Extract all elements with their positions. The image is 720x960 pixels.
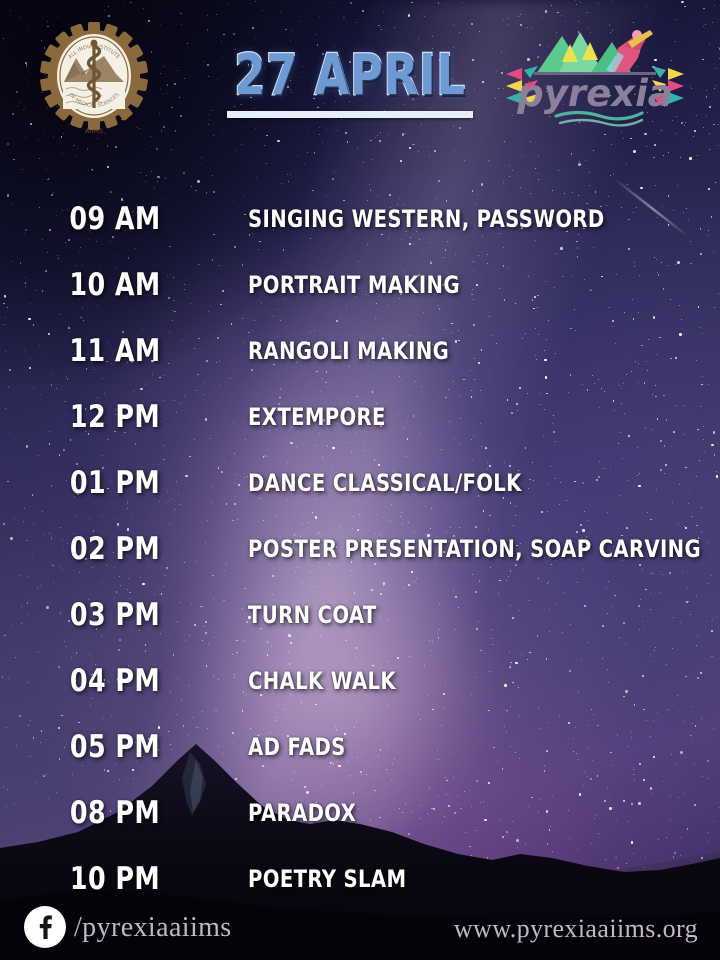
pyrexia-logo: pyrexia — [500, 22, 690, 132]
schedule-time: 12 PM — [21, 399, 210, 435]
schedule-event: CHALK WALK — [230, 667, 632, 695]
facebook-icon[interactable] — [24, 906, 66, 948]
schedule-event: EXTEMPORE — [230, 403, 632, 431]
schedule-row: 08 PMPARADOX — [0, 780, 720, 846]
poster-header: ALL INDIA INSTITUTE OF MEDICAL SCIENCES … — [0, 0, 720, 150]
facebook-handle[interactable]: /pyrexiaaiims — [74, 912, 232, 944]
schedule-time: 10 AM — [21, 267, 210, 303]
schedule-event: AD FADS — [230, 733, 632, 761]
schedule-time: 03 PM — [21, 597, 210, 633]
schedule-row: 04 PMCHALK WALK — [0, 648, 720, 714]
website-url[interactable]: www.pyrexiaaiims.org — [454, 914, 698, 944]
page-title: 27 APRIL — [234, 48, 466, 104]
schedule-row: 12 PMEXTEMPORE — [0, 384, 720, 450]
schedule-row: 02 PMPOSTER PRESENTATION, SOAP CARVING — [0, 516, 720, 582]
schedule-event: DANCE CLASSICAL/FOLK — [230, 469, 632, 497]
schedule-event: PARADOX — [230, 799, 632, 827]
date-title-block: 27 APRIL — [205, 48, 495, 118]
schedule-row: 10 AMPORTRAIT MAKING — [0, 252, 720, 318]
event-schedule-poster: ALL INDIA INSTITUTE OF MEDICAL SCIENCES … — [0, 0, 720, 960]
schedule-time: 01 PM — [21, 465, 210, 501]
poster-footer: /pyrexiaaiims www.pyrexiaaiims.org — [0, 896, 720, 960]
schedule-time: 04 PM — [21, 663, 210, 699]
schedule-event: TURN COAT — [230, 601, 632, 629]
schedule-time: 02 PM — [21, 531, 210, 567]
schedule-event: PORTRAIT MAKING — [230, 271, 632, 299]
svg-text:AIIMS: AIIMS — [85, 127, 103, 135]
schedule-time: 05 PM — [21, 729, 210, 765]
schedule-event: RANGOLI MAKING — [230, 337, 632, 365]
schedule-row: 11 AMRANGOLI MAKING — [0, 318, 720, 384]
schedule-list: 09 AMSINGING WESTERN, PASSWORD10 AMPORTR… — [0, 186, 720, 912]
schedule-event: POSTER PRESENTATION, SOAP CARVING — [230, 535, 701, 563]
title-underline — [227, 111, 473, 118]
schedule-row: 05 PMAD FADS — [0, 714, 720, 780]
aiims-logo: ALL INDIA INSTITUTE OF MEDICAL SCIENCES … — [34, 18, 154, 138]
schedule-time: 11 AM — [21, 333, 210, 369]
schedule-time: 08 PM — [21, 795, 210, 831]
schedule-event: SINGING WESTERN, PASSWORD — [230, 205, 632, 233]
schedule-row: 03 PMTURN COAT — [0, 582, 720, 648]
schedule-row: 01 PMDANCE CLASSICAL/FOLK — [0, 450, 720, 516]
schedule-time: 10 PM — [21, 861, 210, 897]
schedule-time: 09 AM — [21, 201, 210, 237]
schedule-row: 09 AMSINGING WESTERN, PASSWORD — [0, 186, 720, 252]
pyrexia-wordmark: pyrexia — [516, 72, 672, 115]
schedule-event: POETRY SLAM — [230, 865, 632, 893]
